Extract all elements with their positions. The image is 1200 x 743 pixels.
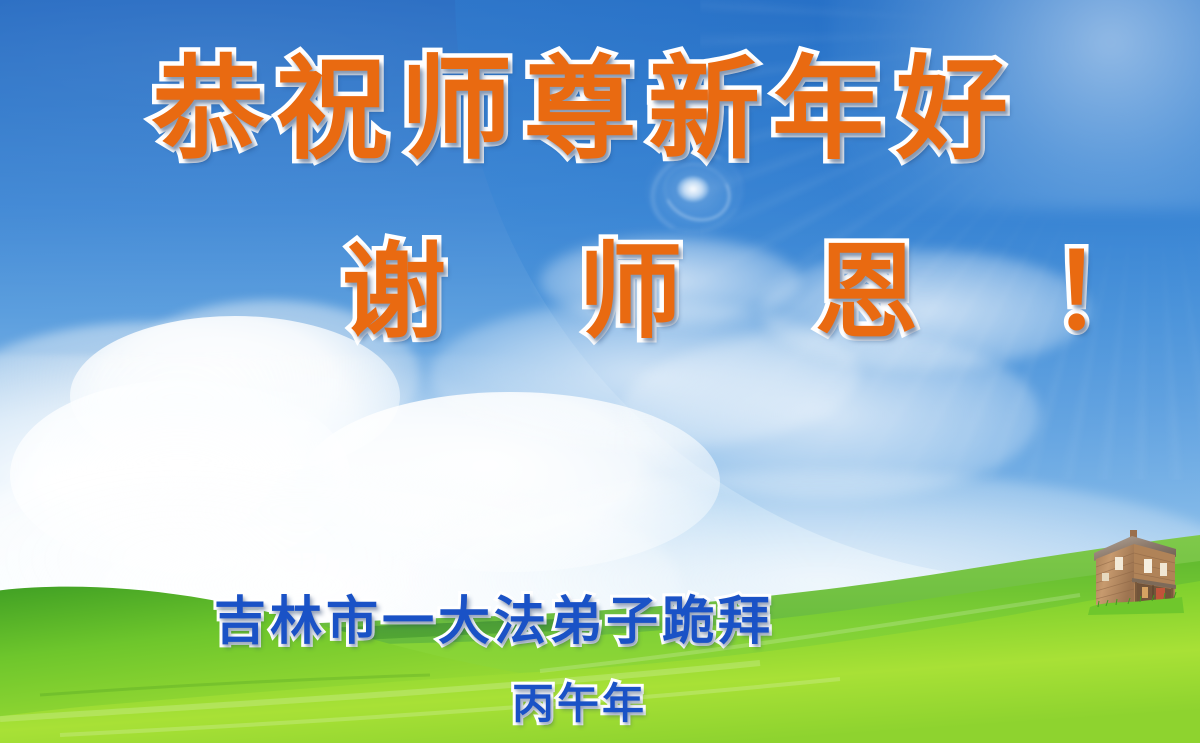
greeting-headline-line-2: 谢 师 恩 ！ — [342, 240, 1200, 344]
lunar-year-text: 丙午年 — [512, 683, 647, 725]
farmhouse-svg — [1072, 527, 1190, 617]
window-upper-left — [1115, 557, 1123, 570]
greeting-headline-line-1: 恭祝师尊新年好 — [152, 54, 1020, 166]
farmhouse-illustration — [1072, 527, 1190, 617]
porch-post-1 — [1135, 582, 1137, 602]
window-small-left — [1102, 573, 1109, 581]
signature-text: 吉林市一大法弟子跪拜 — [214, 596, 774, 648]
greeting-card: 恭祝师尊新年好 谢 师 恩 ！ 吉林市一大法弟子跪拜 丙午年 — [0, 0, 1200, 743]
porch-window-lit — [1142, 587, 1148, 598]
window-upper-mid — [1144, 559, 1152, 573]
window-upper-right — [1160, 563, 1167, 576]
